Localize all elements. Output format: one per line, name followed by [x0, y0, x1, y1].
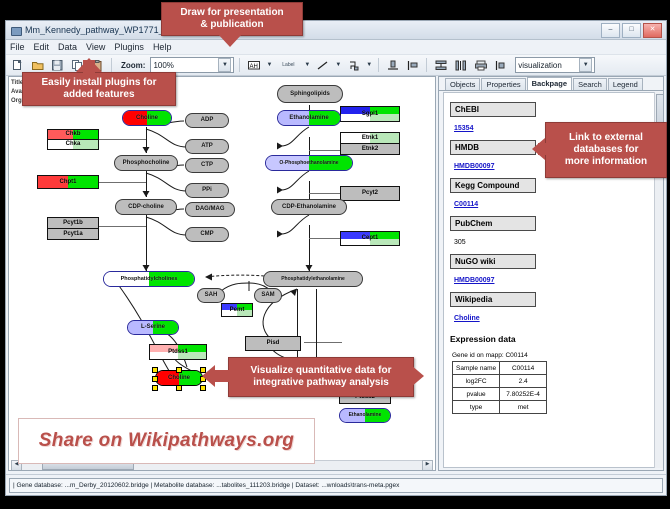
table-row: pvalue 7.80252E-4	[453, 388, 547, 401]
node-label: Chka	[66, 141, 81, 148]
db-link-wikipedia[interactable]: Choline	[454, 315, 480, 322]
node-label: Sphingolipids	[290, 91, 330, 98]
app-icon	[10, 25, 21, 36]
callout-plugins-arrow-stem	[83, 60, 95, 74]
db-header-kegg-compound: Kegg Compound	[450, 178, 536, 193]
callout-visualize: Visualize quantitative data for integrat…	[228, 357, 414, 397]
node-label: Cept1	[362, 235, 379, 242]
db-link-kegg-compound[interactable]: C00114	[454, 201, 478, 208]
expr-value-pvalue: 7.80252E-4	[500, 388, 547, 401]
node-label: CMP	[200, 231, 213, 238]
node-label: CTP	[201, 162, 213, 169]
visualization-combobox[interactable]: visualization ▼	[515, 57, 595, 73]
callout-draw-arrow-icon	[217, 33, 243, 47]
expr-value-sample-name: C00114	[500, 362, 547, 375]
menu-item-view[interactable]: View	[86, 42, 105, 52]
db-value-pubchem: 305	[454, 239, 466, 246]
selection-handle-n[interactable]	[176, 367, 182, 373]
save-icon[interactable]	[49, 57, 66, 74]
selection-handle-nw[interactable]	[152, 367, 158, 373]
db-link-nugo-wiki[interactable]: HMDB00097	[454, 277, 494, 284]
node-label: Pcyt2	[362, 190, 378, 197]
node-chpt1[interactable]: Chpt1	[37, 175, 99, 189]
node-label: O-Phosphoethanolamine	[279, 160, 338, 167]
connector-dropdown-icon[interactable]: ▼	[366, 62, 372, 68]
expr-key-sample-name: Sample name	[453, 362, 500, 375]
expr-key-pvalue: pvalue	[453, 388, 500, 401]
toolbar-separator-1	[111, 58, 112, 72]
node-adp[interactable]: ADP	[185, 113, 229, 128]
label-icon[interactable]: Label	[276, 57, 300, 74]
new-document-icon[interactable]	[9, 57, 26, 74]
text-box-dropdown-icon[interactable]: ▼	[266, 62, 272, 68]
node-ptdss1[interactable]: Ptdss1	[149, 344, 207, 360]
node-label: Phosphocholine	[123, 160, 170, 167]
node-sam[interactable]: SAM	[254, 288, 282, 303]
db-header-pubchem: PubChem	[450, 216, 536, 231]
node-label: Phosphatidylethanolamine	[281, 276, 345, 283]
visualization-value: visualization	[518, 61, 579, 70]
callout-draw: Draw for presentation & publication	[161, 2, 303, 36]
node-label: PPi	[202, 187, 212, 194]
print-icon[interactable]	[472, 57, 489, 74]
tab-legend[interactable]: Legend	[608, 78, 643, 90]
label-icon-text: Label	[282, 62, 294, 68]
node-phosphocholine[interactable]: Phosphocholine	[114, 155, 178, 171]
node-sah[interactable]: SAH	[197, 288, 225, 303]
db-link-hmdb[interactable]: HMDB00097	[454, 163, 494, 170]
expr-key-log2fc: log2FC	[453, 375, 500, 388]
selection-handle-w[interactable]	[152, 376, 158, 382]
status-bar: | Gene database: ...m_Derby_20120602.bri…	[6, 474, 666, 495]
node-label: Pcyt1a	[63, 231, 82, 238]
node-sgpl1[interactable]: Sgpl1	[340, 106, 400, 122]
scroll-right-arrow-icon[interactable]: ▶	[422, 460, 433, 471]
node-l-serine-left[interactable]: L-Serine	[127, 320, 179, 335]
connector-icon[interactable]	[345, 57, 362, 74]
layout-icon[interactable]	[492, 57, 509, 74]
distribute-vertical-icon[interactable]	[432, 57, 449, 74]
node-label: ATP	[201, 143, 213, 150]
table-row: Sample name C00114	[453, 362, 547, 375]
node-atp[interactable]: ATP	[185, 139, 229, 154]
text-box-icon[interactable]: AH	[245, 57, 262, 74]
db-header-hmdb: HMDB	[450, 140, 536, 155]
db-header-wikipedia: Wikipedia	[450, 292, 536, 307]
align-left-icon[interactable]	[404, 57, 421, 74]
node-o-phosphoethanolamine[interactable]: O-Phosphoethanolamine	[265, 155, 353, 171]
node-ppi[interactable]: PPi	[185, 183, 229, 198]
align-bottom-icon[interactable]	[384, 57, 401, 74]
node-cdp-ethanolamine[interactable]: CDP-Ethanolamine	[271, 199, 347, 215]
tab-properties[interactable]: Properties	[481, 78, 525, 90]
node-pcyt2[interactable]: Pcyt2	[340, 186, 400, 201]
zoom-value: 100%	[153, 61, 218, 70]
node-cdp-choline[interactable]: CDP-choline	[115, 199, 177, 215]
node-label: Sgpl1	[362, 111, 378, 118]
callout-links: Link to external databases for more info…	[545, 122, 667, 178]
pathway-canvas-panel[interactable]: Title: Availa Organi	[8, 76, 436, 471]
node-label: DAG/MAG	[196, 206, 225, 213]
tab-backpage[interactable]: Backpage	[527, 77, 572, 90]
chevron-down-icon[interactable]: ▼	[218, 58, 231, 72]
node-ethanolamine-top[interactable]: Ethanolamine	[277, 110, 341, 126]
db-header-chebi: ChEBI	[450, 102, 536, 117]
node-ctp[interactable]: CTP	[185, 158, 229, 173]
line-icon[interactable]	[314, 57, 331, 74]
node-pcyt1a[interactable]: Pcyt1a	[47, 228, 99, 240]
expr-key-type: type	[453, 401, 500, 414]
node-pemt[interactable]: Pemt	[221, 303, 253, 317]
tab-objects[interactable]: Objects	[445, 78, 480, 90]
node-label: Phosphatidylcholines	[121, 276, 178, 283]
node-choline-top[interactable]: Choline	[122, 110, 172, 126]
node-label: Ethanolamine	[289, 115, 328, 122]
db-header-nugo-wiki: NuGO wiki	[450, 254, 536, 269]
menu-item-plugins[interactable]: Plugins	[114, 42, 144, 52]
screenshot-root: Mm_Kennedy_pathway_WP1771_45176.gpml – □…	[0, 0, 670, 509]
node-ethanolamine-bottom[interactable]: Ethanolamine	[339, 408, 391, 423]
node-sphingolipids[interactable]: Sphingolipids	[277, 85, 343, 103]
expression-table: Sample name C00114 log2FC 2.4 pvalue 7.8…	[452, 361, 547, 414]
selection-handle-s[interactable]	[176, 385, 182, 391]
share-banner-text: Share on Wikipathways.org	[39, 430, 294, 452]
selection-handle-sw[interactable]	[152, 385, 158, 391]
share-banner: Share on Wikipathways.org	[18, 418, 315, 464]
visualization-chevron-down-icon[interactable]: ▼	[579, 58, 592, 72]
zoom-combobox[interactable]: 100% ▼	[150, 57, 234, 73]
side-panel-tabs: Objects Properties Backpage Search Legen…	[439, 77, 663, 91]
node-label: Pisd	[267, 340, 280, 347]
table-row: log2FC 2.4	[453, 375, 547, 388]
node-label: Pcyt1b	[63, 220, 83, 227]
node-cmp[interactable]: CMP	[185, 227, 229, 242]
table-row: type met	[453, 401, 547, 414]
node-label: Choline	[136, 115, 158, 122]
window-buttons: – □ ✕	[601, 23, 662, 38]
title-bar: Mm_Kennedy_pathway_WP1771_45176.gpml – □…	[6, 21, 666, 40]
node-label: Etnk1	[362, 135, 378, 142]
node-label: SAH	[205, 292, 218, 299]
node-phosphatidylcholines[interactable]: Phosphatidylcholines	[103, 271, 195, 287]
node-label: Pemt	[230, 307, 245, 314]
label-dropdown-icon[interactable]: ▼	[304, 62, 310, 68]
node-pisd[interactable]: Pisd	[245, 336, 301, 351]
toolbar-separator-2	[239, 58, 240, 72]
gene-id-on-mapp: Gene id on mapp: C00114	[452, 352, 654, 359]
toolbar-separator-4	[426, 58, 427, 72]
node-chka[interactable]: Chka	[47, 139, 99, 150]
open-folder-icon[interactable]	[29, 57, 46, 74]
close-button[interactable]: ✕	[643, 23, 662, 38]
node-dagmag[interactable]: DAG/MAG	[185, 202, 235, 217]
distribute-horizontal-icon[interactable]	[452, 57, 469, 74]
callout-visualize-arrow-stem-right	[405, 370, 415, 382]
toolbar-separator-3	[378, 58, 379, 72]
callout-links-arrow-stem	[538, 143, 548, 155]
node-label: Etnk2	[362, 146, 378, 153]
node-label: ADP	[201, 117, 214, 124]
svg-text:AH: AH	[249, 64, 257, 70]
node-label: CDP-choline	[128, 204, 164, 211]
db-link-chebi[interactable]: 15354	[454, 125, 473, 132]
callout-visualize-arrow-stem-left	[212, 370, 230, 382]
expr-value-log2fc: 2.4	[500, 375, 547, 388]
maximize-button[interactable]: □	[622, 23, 641, 38]
line-dropdown-icon[interactable]: ▼	[335, 62, 341, 68]
expression-data-title: Expression data	[450, 334, 654, 344]
status-text: | Gene database: ...m_Derby_20120602.bri…	[9, 478, 663, 493]
node-label: Choline	[168, 375, 190, 382]
tab-search[interactable]: Search	[573, 78, 607, 90]
menu-item-edit[interactable]: Edit	[34, 42, 50, 52]
node-etnk2[interactable]: Etnk2	[340, 143, 400, 155]
minimize-button[interactable]: –	[601, 23, 620, 38]
node-label: Ptdss1	[168, 349, 188, 356]
node-label: SAM	[261, 292, 274, 299]
menu-item-help[interactable]: Help	[153, 42, 172, 52]
node-label: L-Serine	[141, 324, 165, 331]
node-label: CDP-Ethanolamine	[282, 204, 336, 211]
node-label: Ethanolamine	[349, 412, 382, 419]
pathway-canvas[interactable]: Title: Availa Organi	[9, 77, 435, 470]
menu-bar: File Edit Data View Plugins Help	[6, 40, 666, 55]
menu-item-data[interactable]: Data	[58, 42, 77, 52]
node-label: Chpt1	[60, 179, 77, 186]
callout-plugins: Easily install plugins for added feature…	[22, 72, 176, 106]
node-phosphatidylethanolamine[interactable]: Phosphatidylethanolamine	[263, 271, 363, 287]
expr-value-type: met	[500, 401, 547, 414]
node-label: Chkb	[66, 131, 81, 138]
menu-item-file[interactable]: File	[10, 42, 25, 52]
node-cept1[interactable]: Cept1	[340, 231, 400, 246]
zoom-label: Zoom:	[121, 61, 145, 70]
